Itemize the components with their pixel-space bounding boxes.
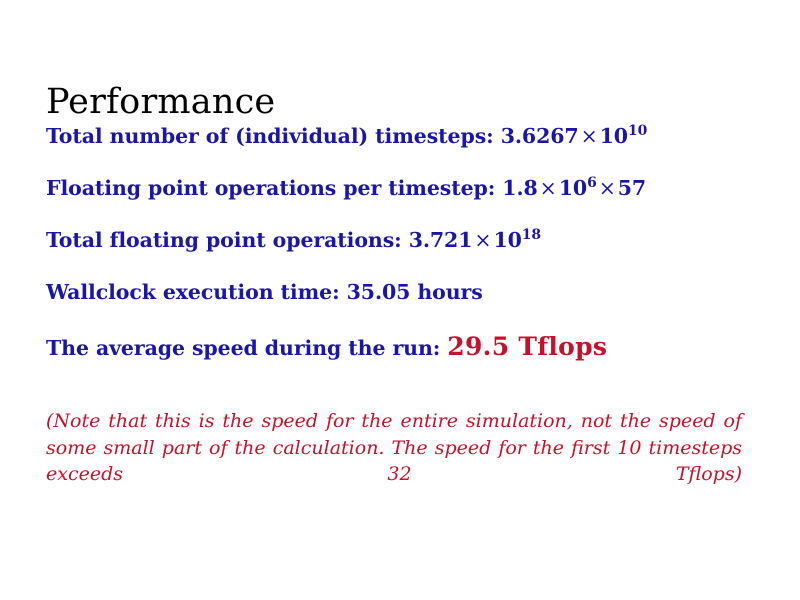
bullet-value-factor-flops-per-timestep: 57 <box>618 176 646 200</box>
bullet-wallclock-time: Wallclock execution time: 35.05 hours <box>46 282 754 303</box>
bullet-value-base-flops-per-timestep: 10 <box>559 176 587 200</box>
multiplication-sign-icon: × <box>472 228 493 252</box>
bullet-flops-per-timestep: Floating point operations per timestep: … <box>46 178 754 199</box>
bullet-label-flops-per-timestep: Floating point operations per timestep: <box>46 176 495 200</box>
bullet-label-total-flops: Total floating point operations: <box>46 228 402 252</box>
bullet-value-wallclock-time: 35.05 hours <box>347 280 483 304</box>
bullet-value-base-total-flops: 10 <box>493 228 521 252</box>
bullet-value-exponent-total-timesteps: 10 <box>628 123 647 139</box>
multiplication-sign-icon: × <box>538 176 559 200</box>
bullet-value-mantissa-total-timesteps: 3.6267 <box>501 124 579 148</box>
bullet-label-average-speed: The average speed during the run: <box>46 336 440 360</box>
bullet-total-timesteps: Total number of (individual) timesteps: … <box>46 126 754 147</box>
bullet-value-average-speed: 29.5 Tflops <box>447 332 607 361</box>
bullet-label-total-timesteps: Total number of (individual) timesteps: <box>46 124 494 148</box>
bullet-total-flops: Total floating point operations: 3.721×1… <box>46 230 754 251</box>
bullet-value-base-total-timesteps: 10 <box>600 124 628 148</box>
note-paragraph: (Note that this is the speed for the ent… <box>46 408 742 514</box>
bullet-label-wallclock-time: Wallclock execution time: <box>46 280 340 304</box>
bullet-value-mantissa-total-flops: 3.721 <box>409 228 473 252</box>
bullet-average-speed: The average speed during the run: 29.5 T… <box>46 334 754 359</box>
presentation-slide: Performance Total number of (individual)… <box>0 0 800 600</box>
page-title: Performance <box>46 85 275 120</box>
bullet-value-exponent-total-flops: 18 <box>522 227 541 243</box>
multiplication-sign-icon-secondary: × <box>597 176 618 200</box>
bullet-value-mantissa-flops-per-timestep: 1.8 <box>502 176 537 200</box>
bullet-list: Total number of (individual) timesteps: … <box>46 126 754 391</box>
multiplication-sign-icon: × <box>579 124 600 148</box>
bullet-value-exponent-flops-per-timestep: 6 <box>587 175 597 191</box>
